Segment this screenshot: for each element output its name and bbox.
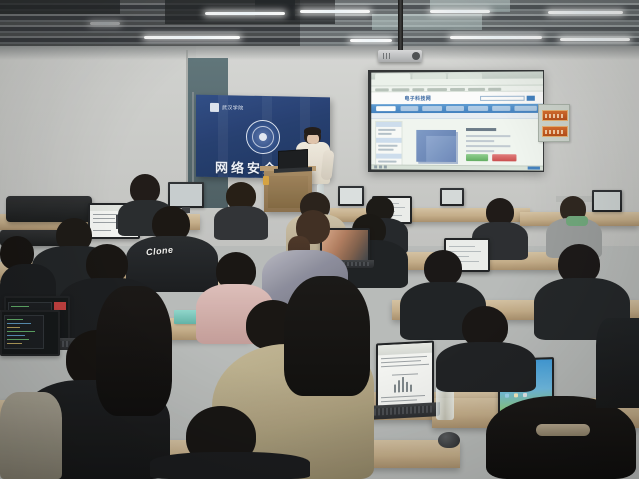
sidebar-heading-2	[376, 138, 401, 143]
bookmark-7[interactable]	[488, 87, 501, 90]
wall-plaque-frame	[538, 104, 570, 142]
student-row3-right-1-head	[424, 250, 462, 286]
ceiling-light-9	[90, 22, 120, 25]
ceiling-light-7	[560, 38, 630, 41]
site-logo: 电子科技网	[404, 95, 431, 102]
school-logo-text: 武汉学院	[222, 104, 244, 111]
nav-item-3[interactable]	[422, 106, 442, 111]
bookmark-1[interactable]	[375, 88, 389, 91]
banner-school-logo: 武汉学院	[210, 103, 244, 113]
student-front-dark-center-hair	[284, 276, 370, 396]
taskbar-icon-1[interactable]	[374, 165, 377, 168]
nav-item-6[interactable]	[492, 106, 510, 111]
code2-line-4	[7, 331, 35, 332]
laptop-front-left-screen	[2, 312, 58, 354]
laptop-front-center-screen	[378, 343, 432, 408]
taskbar-active-window[interactable]	[528, 166, 540, 169]
wall-plaque-bottom	[542, 126, 568, 137]
product-attr-2	[466, 140, 494, 142]
student-far-right-front-torso	[596, 318, 639, 408]
projection-screen: 电子科技网	[368, 70, 544, 172]
taskbar-icon-2[interactable]	[379, 165, 382, 168]
student-hair-tie-hair	[486, 396, 636, 479]
product-title	[466, 128, 496, 131]
taskbar-icon-3[interactable]	[384, 165, 387, 168]
monitor-back-2-screen	[340, 188, 362, 204]
projector-vent-2	[386, 53, 387, 59]
monitor-back-2	[338, 186, 364, 206]
monitor-back-4	[592, 190, 622, 212]
code2-line-1	[7, 319, 23, 320]
code2-line-7	[7, 343, 22, 344]
nav-item-2[interactable]	[401, 106, 419, 111]
doc-line-2	[93, 218, 115, 219]
projected-browser-window: 电子科技网	[371, 71, 543, 170]
site-search-button[interactable]	[527, 96, 535, 101]
ceiling-light-4	[548, 11, 623, 14]
sheet-line-1	[381, 356, 427, 359]
ceiling-skylight-1	[372, 14, 482, 30]
chart-bar-4	[406, 382, 408, 392]
code-line-1	[11, 306, 29, 307]
bookmark-3[interactable]	[412, 88, 424, 91]
screen-spreadsheet-chart	[378, 343, 432, 408]
mouse-front-right[interactable]	[438, 432, 460, 448]
chart-bar-1	[394, 384, 396, 392]
product-image-overlay	[426, 136, 456, 162]
code-badge	[54, 302, 66, 310]
secondary-action-button[interactable]	[492, 154, 516, 161]
bookmark-6[interactable]	[468, 87, 485, 90]
wall-plaque-top	[542, 110, 568, 121]
screen-dark-code-editor-2	[2, 312, 58, 354]
bookmark-4[interactable]	[427, 88, 447, 91]
sidebar-heading-3	[376, 154, 401, 159]
code2-line-3	[7, 327, 20, 328]
desktop-icon-14[interactable]	[514, 393, 518, 397]
ceiling-light-1	[205, 12, 285, 15]
site-header: 电子科技网	[371, 92, 543, 105]
web-page-content: 电子科技网	[371, 92, 543, 171]
wall-top-shadow	[0, 46, 639, 60]
chart-bar-5	[410, 385, 412, 392]
chart-bar-2	[398, 380, 400, 392]
breadcrumb	[371, 113, 543, 119]
school-logo-icon	[210, 103, 219, 112]
ceiling-light-2	[300, 10, 370, 13]
banner-hanger	[192, 92, 194, 184]
speaker-face	[307, 134, 319, 144]
code2-line-6	[7, 339, 29, 340]
doc-line-4	[93, 230, 111, 231]
product-attr-3	[466, 145, 510, 147]
site-search-input[interactable]	[480, 96, 525, 101]
laptop-front-center-keyboard[interactable]	[374, 406, 432, 416]
projector-vent-1	[383, 53, 384, 59]
wdoc2-line-2	[449, 251, 481, 252]
podium-cup	[263, 176, 269, 185]
ceiling-light-8	[350, 39, 392, 42]
student-hair-tie-scrunchie	[536, 424, 590, 436]
nav-item-1[interactable]	[376, 106, 396, 111]
sheet-line-5	[381, 399, 417, 402]
sidebar-item-2[interactable]	[378, 133, 392, 135]
student-row3-laptop-user-torso	[436, 342, 536, 392]
code2-line-5	[7, 335, 25, 336]
projector-mount-pole	[398, 0, 403, 52]
sidebar-item-5[interactable]	[378, 161, 397, 163]
classroom-photo: 电子科技网	[0, 0, 639, 479]
ceiling-panel-dark-2	[0, 0, 120, 14]
bookmark-5[interactable]	[450, 87, 465, 90]
association-emblem-icon	[246, 120, 280, 155]
student-front-hair-left-hair	[96, 286, 172, 416]
student-front-right-dark-torso	[150, 452, 310, 479]
sheet-line-2	[381, 360, 421, 363]
monitor-back-1	[168, 182, 204, 208]
product-attr-1	[466, 135, 510, 137]
desktop-icon-13[interactable]	[505, 394, 509, 398]
wdoc2-line-1	[449, 246, 475, 247]
os-taskbar[interactable]	[371, 164, 543, 170]
sidebar-item-1[interactable]	[378, 129, 396, 131]
monitor-back-4-screen	[594, 192, 620, 210]
student-back-5-scarf	[566, 216, 588, 226]
chart-bar-3	[402, 377, 404, 392]
ceiling-light-3	[430, 10, 490, 13]
desktop-icon-15[interactable]	[523, 393, 527, 397]
student-back-2-torso	[214, 206, 268, 240]
sheet-line-4	[381, 395, 425, 398]
projector-lens-icon	[412, 52, 420, 60]
ceiling-light-6	[450, 36, 542, 39]
sidebar-heading-1	[376, 122, 401, 127]
student-bottom-left-shoulder	[0, 392, 62, 479]
sheet-line-3	[381, 364, 429, 368]
site-sidebar[interactable]	[375, 121, 402, 166]
primary-action-button[interactable]	[466, 154, 488, 161]
projector-vent-3	[389, 53, 390, 59]
speaker-hair	[304, 127, 321, 135]
sidebar-item-4[interactable]	[378, 149, 394, 151]
monitor-back-1-screen	[170, 184, 202, 206]
ceiling-panel-dark-3	[255, 0, 295, 20]
code2-line-2	[7, 323, 31, 324]
monitor-back-3-screen	[442, 190, 462, 204]
nav-item-5[interactable]	[468, 106, 488, 111]
ceiling-light-5	[144, 36, 240, 39]
sidebar-item-3[interactable]	[378, 145, 398, 147]
product-info-panel	[466, 128, 531, 155]
nav-item-7[interactable]	[514, 106, 536, 111]
spreadsheet-ribbon	[378, 343, 432, 356]
monitor-back-3	[440, 188, 464, 206]
product-attr-4	[466, 150, 494, 152]
sheet-chart-title	[392, 373, 418, 375]
bookmark-2[interactable]	[392, 88, 410, 91]
nav-item-4[interactable]	[446, 106, 464, 111]
